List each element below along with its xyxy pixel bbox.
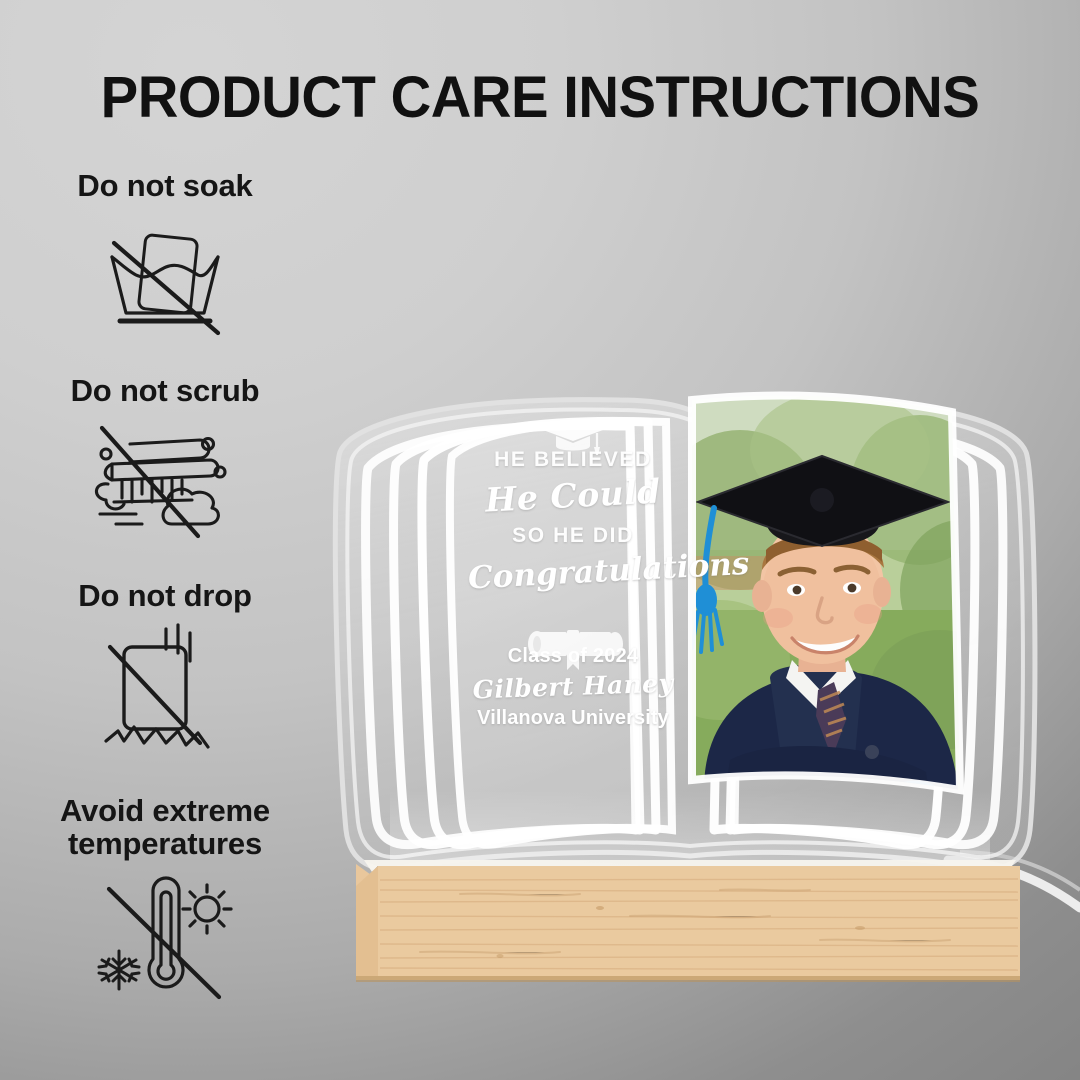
no-scrub-icon (72, 414, 258, 540)
care-item-do-not-soak: Do not soak (0, 170, 330, 375)
product-care-instructions-image: PRODUCT CARE INSTRUCTIONS Do not soak (0, 0, 1080, 1080)
engraving-line-2: He Could (467, 474, 679, 520)
no-soak-icon (90, 209, 240, 339)
no-extreme-temperature-icon (85, 867, 245, 1007)
engraving-line-3: SO HE DID (468, 524, 678, 547)
care-item-avoid-extreme-temperatures: Avoid extreme temperatures (0, 795, 330, 1025)
care-label-do-not-soak: Do not soak (0, 170, 330, 203)
engraving-graduate-name: Gilbert Haney (468, 669, 679, 705)
care-instructions-list: Do not soak Do not scrub (0, 170, 330, 1025)
care-label-line-1: Avoid extreme (0, 795, 330, 828)
no-drop-icon (90, 619, 240, 759)
acrylic-book-plaque (300, 360, 1080, 1020)
care-item-do-not-scrub: Do not scrub (0, 375, 330, 580)
wood-base (356, 860, 1020, 982)
plaque-engraving: HE BELIEVED He Could SO HE DID Congratul… (468, 410, 678, 730)
care-label-do-not-scrub: Do not scrub (0, 375, 330, 408)
diploma-scroll-icon (524, 628, 624, 672)
page-title: PRODUCT CARE INSTRUCTIONS (16, 64, 1064, 131)
engraving-line-4: Congratulations (467, 551, 678, 594)
care-label-line-2: temperatures (0, 828, 330, 861)
graduation-cap-icon (540, 416, 606, 458)
care-label-do-not-drop: Do not drop (0, 580, 330, 613)
care-label-avoid-extreme-temperatures: Avoid extreme temperatures (0, 795, 330, 861)
product-photo: HE BELIEVED He Could SO HE DID Congratul… (300, 360, 1080, 1020)
care-item-do-not-drop: Do not drop (0, 580, 330, 795)
engraving-school: Villanova University (468, 707, 678, 730)
